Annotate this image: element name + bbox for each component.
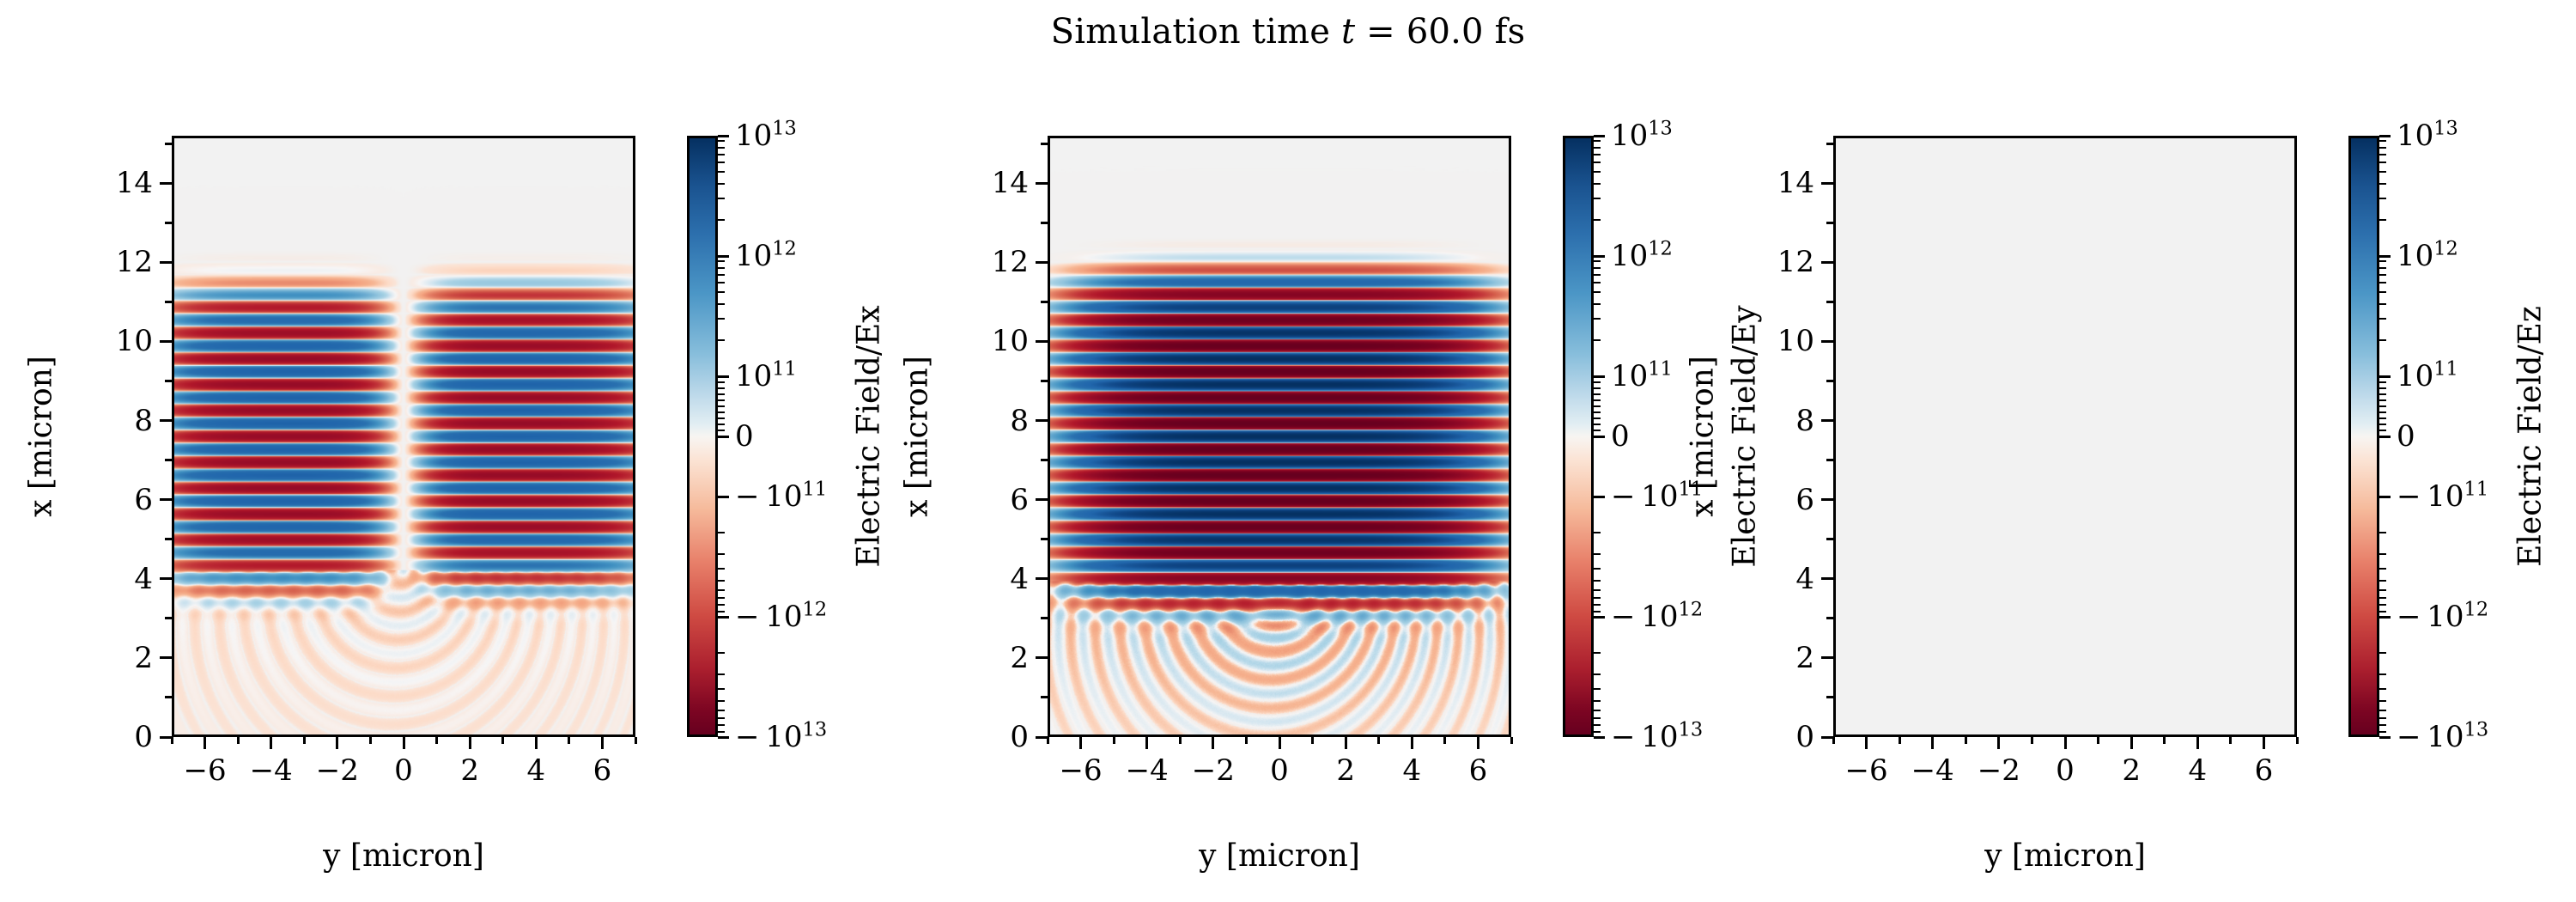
y-tick-label: 10 [965,326,1029,356]
colorbar-tick-minor [1594,568,1601,570]
y-tick-minor [1041,459,1048,461]
y-tick-major [160,419,172,422]
y-tick-major [1036,656,1048,659]
colorbar-tick-minor [718,282,725,283]
colorbar-tick-major [2379,255,2391,258]
y-tick-major [1036,577,1048,580]
x-tick-major [204,737,206,749]
colorbar-tick-minor [1594,183,1601,185]
colorbar-tick-minor [1594,424,1601,425]
y-tick-label: 0 [89,722,153,752]
colorbar-tick-minor [718,267,725,269]
x-tick-label: −4 [250,756,293,785]
x-tick-label: 2 [1336,756,1355,785]
colorbar-tick-minor [1594,171,1601,173]
x-tick-minor [1377,737,1380,744]
x-tick-minor [1113,737,1115,744]
x-tick-label: −2 [316,756,359,785]
y-tick-major [1036,498,1048,501]
x-tick-minor [1965,737,1967,744]
colorbar-tick-minor [718,532,725,533]
colorbar-tick-minor [2379,171,2386,173]
y-tick-label: 2 [89,643,153,673]
colorbar-tick-minor [718,568,725,570]
y-tick-minor [165,380,172,382]
colorbar-ticks-ey: 1013101210110− 1011− 1012− 1013 [1563,136,1594,737]
colorbar-tick-minor [2379,381,2386,383]
colorbar-tick-major [1594,135,1605,137]
colorbar-tick-minor [718,171,725,173]
colorbar-tick-minor [1594,673,1601,675]
colorbar-tick-minor [2379,597,2386,599]
colorbar-tick-major [718,736,729,739]
colorbar-tick-minor [2379,267,2386,269]
colorbar-tick-label: − 1013 [2397,722,2488,752]
colorbar-tick-minor [1594,162,1601,163]
colorbar-tick-minor [718,553,725,555]
colorbar-tick-minor [718,688,725,690]
ticks-ex: −6−4−2024602468101214 [172,136,635,737]
suptitle-prefix: Simulation time [1051,12,1341,52]
y-tick-major [1821,656,1833,659]
colorbar-tick-minor [2379,424,2386,425]
colorbar-tick-label: 1012 [2397,241,2458,271]
xaxis-label-ez: y [micron] [1984,838,2146,874]
x-tick-minor [2229,737,2232,744]
colorbar-tick-minor [718,393,725,395]
colorbar-tick-minor [2379,604,2386,606]
colorbar-tick-label: 1011 [1611,362,1673,391]
yaxis-label-ey: x [micron] [900,356,935,517]
colorbar-tick-minor [2379,387,2386,389]
x-tick-major [1079,737,1082,749]
colorbar-tick-major [1594,255,1605,258]
colorbar-tick-major [718,436,729,438]
y-tick-major [160,577,172,580]
colorbar-tick-minor [718,405,725,407]
y-tick-minor [165,301,172,303]
colorbar-wrap-ey: 1013101210110− 1011− 1012− 1013 Electric… [1563,136,1594,737]
y-tick-label: 6 [965,485,1029,515]
colorbar-tick-minor [2379,140,2386,142]
colorbar-tick-minor [1594,597,1601,599]
colorbar-tick-minor [2379,318,2386,320]
colorbar-tick-label: 1013 [735,121,797,150]
colorbar-tick-major [1594,496,1605,498]
x-tick-major [1997,737,2000,749]
x-tick-minor [568,737,570,744]
x-tick-major [2064,737,2067,749]
x-tick-major [1279,737,1281,749]
colorbar-tick-minor [1594,611,1601,613]
y-tick-label: 6 [89,485,153,515]
colorbar-tick-minor [1594,147,1601,149]
colorbar-tick-minor [2379,303,2386,305]
colorbar-tick-minor [1594,291,1601,293]
suptitle-time-value: 60.0 [1406,12,1484,52]
colorbar-tick-major [718,496,729,498]
y-tick-minor [1041,222,1048,224]
y-tick-label: 2 [965,643,1029,673]
y-tick-minor [1826,617,1833,619]
colorbar-tick-minor [1594,731,1601,733]
colorbar-tick-minor [1594,717,1601,719]
x-tick-major [535,737,538,749]
colorbar-tick-minor [718,589,725,591]
colorbar-tick-minor [1594,198,1601,199]
colorbar-tick-major [718,255,729,258]
colorbar-tick-minor [2379,652,2386,654]
x-tick-minor [369,737,372,744]
colorbar-tick-major [2379,736,2391,739]
x-tick-minor [2163,737,2166,744]
x-tick-major [403,737,405,749]
colorbar-tick-minor [2379,154,2386,155]
y-tick-minor [1826,459,1833,461]
colorbar-tick-major [718,135,729,137]
y-tick-major [160,340,172,343]
colorbar-tick-label: 1012 [1611,241,1673,271]
colorbar-tick-minor [2379,611,2386,613]
colorbar-tick-minor [718,652,725,654]
colorbar-tick-minor [718,430,725,431]
y-tick-label: 10 [1751,326,1814,356]
colorbar-tick-minor [718,580,725,582]
x-tick-major [270,737,272,749]
colorbar-tick-minor [718,381,725,383]
colorbar-tick-label: − 1013 [1611,722,1703,752]
colorbar-tick-minor [718,183,725,185]
y-tick-label: 0 [965,722,1029,752]
y-tick-minor [1041,380,1048,382]
y-tick-major [1036,182,1048,185]
xaxis-label-ex: y [micron] [323,838,484,874]
x-tick-label: 4 [1402,756,1421,785]
colorbar-tick-minor [2379,291,2386,293]
colorbar-tick-label: 0 [2397,422,2415,451]
colorbar-tick-minor [1594,688,1601,690]
colorbar-tick-minor [1594,393,1601,395]
colorbar-tick-minor [2379,568,2386,570]
colorbar-tick-minor [2379,339,2386,341]
x-tick-minor [237,737,240,744]
y-tick-minor [165,696,172,698]
colorbar-tick-minor [1594,318,1601,320]
y-tick-label: 8 [89,406,153,436]
colorbar-tick-minor [718,700,725,702]
y-tick-major [1821,577,1833,580]
colorbar-tick-minor [2379,198,2386,199]
y-tick-label: 14 [89,168,153,198]
y-tick-major [160,498,172,501]
colorbar-tick-label: − 1011 [2397,482,2488,511]
x-tick-label: −6 [1845,756,1888,785]
colorbar-tick-minor [1594,282,1601,283]
colorbar-ticks-ex: 1013101210110− 1011− 1012− 1013 [687,136,718,737]
x-tick-label: −4 [1911,756,1954,785]
xaxis-label-ey: y [micron] [1199,838,1360,874]
colorbar-tick-minor [2379,717,2386,719]
colorbar-tick-label: 1013 [1611,121,1673,150]
x-tick-minor [2296,737,2299,744]
suptitle-equals: = [1355,12,1406,52]
colorbar-tick-minor [718,260,725,262]
y-tick-label: 6 [1751,485,1814,515]
colorbar-tick-minor [718,717,725,719]
x-tick-label: 0 [2056,756,2075,785]
colorbar-tick-minor [718,198,725,199]
colorbar-tick-minor [1594,303,1601,305]
colorbar-tick-minor [718,140,725,142]
colorbar-tick-minor [718,147,725,149]
y-tick-major [1036,736,1048,739]
y-tick-minor [1041,301,1048,303]
x-tick-minor [303,737,306,744]
colorbar-tick-minor [2379,183,2386,185]
x-tick-minor [1899,737,1901,744]
colorbar-tick-minor [2379,430,2386,431]
x-tick-minor [635,737,637,744]
y-tick-minor [1826,301,1833,303]
colorbar-tick-minor [1594,267,1601,269]
colorbar-tick-minor [718,399,725,401]
colorbar-tick-minor [718,219,725,221]
colorbar-tick-minor [1594,553,1601,555]
colorbar-tick-label: 1013 [2397,121,2458,150]
colorbar-tick-minor [1594,405,1601,407]
colorbar-tick-minor [2379,673,2386,675]
colorbar-tick-label: 1011 [735,362,797,391]
colorbar-tick-minor [2379,532,2386,533]
x-tick-major [1477,737,1479,749]
y-tick-minor [1826,538,1833,540]
colorbar-tick-minor [2379,282,2386,283]
figure-canvas: Simulation time t = 60.0 fs −6−4−2024602… [0,0,2576,902]
y-tick-label: 2 [1751,643,1814,673]
x-tick-major [1212,737,1214,749]
colorbar-tick-minor [2379,219,2386,221]
x-tick-major [1931,737,1934,749]
colorbar-tick-minor [718,424,725,425]
y-tick-major [1821,182,1833,185]
colorbar-tick-minor [718,318,725,320]
y-tick-major [160,182,172,185]
colorbar-tick-minor [1594,140,1601,142]
y-tick-minor [1041,538,1048,540]
y-tick-label: 4 [965,564,1029,594]
colorbar-tick-minor [1594,274,1601,276]
colorbar-tick-minor [718,162,725,163]
y-tick-minor [165,143,172,145]
y-tick-major [160,656,172,659]
colorbar-tick-minor [1594,532,1601,533]
colorbar-tick-minor [2379,710,2386,711]
x-tick-major [1145,737,1148,749]
colorbar-tick-major [1594,616,1605,619]
colorbar-tick-minor [718,411,725,413]
x-tick-label: −6 [184,756,227,785]
colorbar-tick-minor [2379,580,2386,582]
x-tick-major [2263,737,2265,749]
yaxis-label-ex: x [micron] [24,356,59,517]
y-tick-label: 8 [1751,406,1814,436]
x-tick-major [601,737,604,749]
colorbar-tick-minor [718,291,725,293]
x-tick-major [1345,737,1347,749]
x-tick-label: 6 [2255,756,2274,785]
colorbar-tick-minor [718,724,725,726]
colorbar-tick-label: 0 [1611,422,1630,451]
colorbar-tick-label: − 1013 [735,722,827,752]
x-tick-major [1865,737,1868,749]
colorbar-tick-minor [2379,162,2386,163]
colorbar-tick-minor [718,339,725,341]
y-tick-label: 0 [1751,722,1814,752]
colorbar-tick-label: − 1012 [735,602,827,631]
colorbar-tick-minor [1594,154,1601,155]
x-tick-label: 2 [2122,756,2141,785]
y-tick-minor [1826,143,1833,145]
colorbar-label-ez: Electric Field/Ez [2513,306,2549,567]
colorbar-tick-label: − 1012 [1611,602,1703,631]
colorbar-tick-minor [2379,688,2386,690]
colorbar-tick-minor [2379,260,2386,262]
colorbar-tick-major [2379,616,2391,619]
colorbar-tick-minor [718,274,725,276]
colorbar-tick-major [2379,375,2391,378]
colorbar-tick-minor [2379,405,2386,407]
x-tick-minor [1510,737,1513,744]
colorbar-tick-minor [2379,147,2386,149]
x-tick-major [336,737,338,749]
colorbar-tick-minor [718,417,725,419]
y-tick-major [1036,419,1048,422]
x-tick-minor [1179,737,1182,744]
ticks-ey: −6−4−2024602468101214 [1048,136,1511,737]
colorbar-tick-major [718,375,729,378]
y-tick-minor [165,222,172,224]
x-tick-label: 0 [394,756,413,785]
x-tick-minor [2031,737,2033,744]
y-tick-minor [1826,696,1833,698]
colorbar-tick-minor [2379,589,2386,591]
colorbar-tick-major [1594,375,1605,378]
colorbar-tick-minor [1594,604,1601,606]
y-tick-minor [1041,696,1048,698]
x-tick-label: −2 [1978,756,2020,785]
x-tick-label: 0 [1270,756,1289,785]
y-tick-minor [1041,617,1048,619]
colorbar-tick-minor [1594,399,1601,401]
y-tick-label: 14 [1751,168,1814,198]
colorbar-tick-label: − 1011 [735,482,827,511]
y-tick-major [1821,261,1833,264]
colorbar-tick-minor [1594,381,1601,383]
y-tick-minor [165,459,172,461]
colorbar-tick-minor [1594,387,1601,389]
suptitle-time-variable: t [1341,12,1355,52]
colorbar-tick-label: 1011 [2397,362,2458,391]
colorbar-tick-major [1594,736,1605,739]
x-tick-major [1411,737,1413,749]
colorbar-tick-minor [718,387,725,389]
x-tick-major [469,737,471,749]
y-tick-major [1821,340,1833,343]
y-tick-minor [1826,222,1833,224]
colorbar-tick-minor [718,611,725,613]
colorbar-tick-minor [1594,339,1601,341]
ticks-ez: −6−4−2024602468101214 [1833,136,2297,737]
yaxis-label-ez: x [micron] [1686,356,1721,517]
colorbar-tick-label: − 1012 [2397,602,2488,631]
colorbar-tick-minor [1594,652,1601,654]
colorbar-tick-label: 0 [735,422,754,451]
colorbar-tick-minor [1594,724,1601,726]
y-tick-label: 8 [965,406,1029,436]
colorbar-tick-minor [2379,393,2386,395]
colorbar-tick-minor [2379,724,2386,726]
y-tick-major [1821,498,1833,501]
colorbar-tick-minor [1594,411,1601,413]
colorbar-wrap-ez: 1013101210110− 1011− 1012− 1013 Electric… [2348,136,2379,737]
colorbar-tick-minor [718,731,725,733]
x-tick-minor [2097,737,2099,744]
colorbar-tick-label: 1012 [735,241,797,271]
y-tick-label: 4 [1751,564,1814,594]
colorbar-tick-minor [2379,553,2386,555]
figure-suptitle: Simulation time t = 60.0 fs [0,12,2576,52]
x-tick-minor [1443,737,1446,744]
x-tick-minor [1245,737,1248,744]
colorbar-tick-minor [2379,417,2386,419]
y-tick-label: 10 [89,326,153,356]
y-tick-major [1821,419,1833,422]
y-tick-major [1036,340,1048,343]
y-tick-minor [165,538,172,540]
x-tick-label: 6 [1469,756,1488,785]
y-tick-label: 14 [965,168,1029,198]
colorbar-tick-minor [2379,274,2386,276]
colorbar-tick-minor [2379,399,2386,401]
x-tick-label: −2 [1192,756,1235,785]
colorbar-tick-major [2379,436,2391,438]
y-tick-minor [165,617,172,619]
suptitle-time-unit: fs [1484,12,1526,52]
y-tick-major [160,261,172,264]
y-tick-major [160,736,172,739]
colorbar-tick-major [2379,135,2391,137]
y-tick-label: 12 [1751,247,1814,277]
colorbar-tick-minor [1594,580,1601,582]
x-tick-label: 6 [593,756,612,785]
colorbar-tick-minor [718,303,725,305]
colorbar-tick-major [1594,436,1605,438]
colorbar-tick-minor [1594,589,1601,591]
x-tick-major [2130,737,2133,749]
y-tick-major [1036,261,1048,264]
x-tick-major [2196,737,2199,749]
colorbar-tick-major [2379,496,2391,498]
x-tick-minor [435,737,438,744]
colorbar-wrap-ex: 1013101210110− 1011− 1012− 1013 Electric… [687,136,718,737]
colorbar-tick-minor [718,597,725,599]
x-tick-label: 4 [2188,756,2207,785]
colorbar-tick-minor [718,710,725,711]
colorbar-tick-minor [1594,430,1601,431]
colorbar-tick-minor [1594,700,1601,702]
x-tick-label: 2 [460,756,479,785]
x-tick-label: 4 [526,756,545,785]
